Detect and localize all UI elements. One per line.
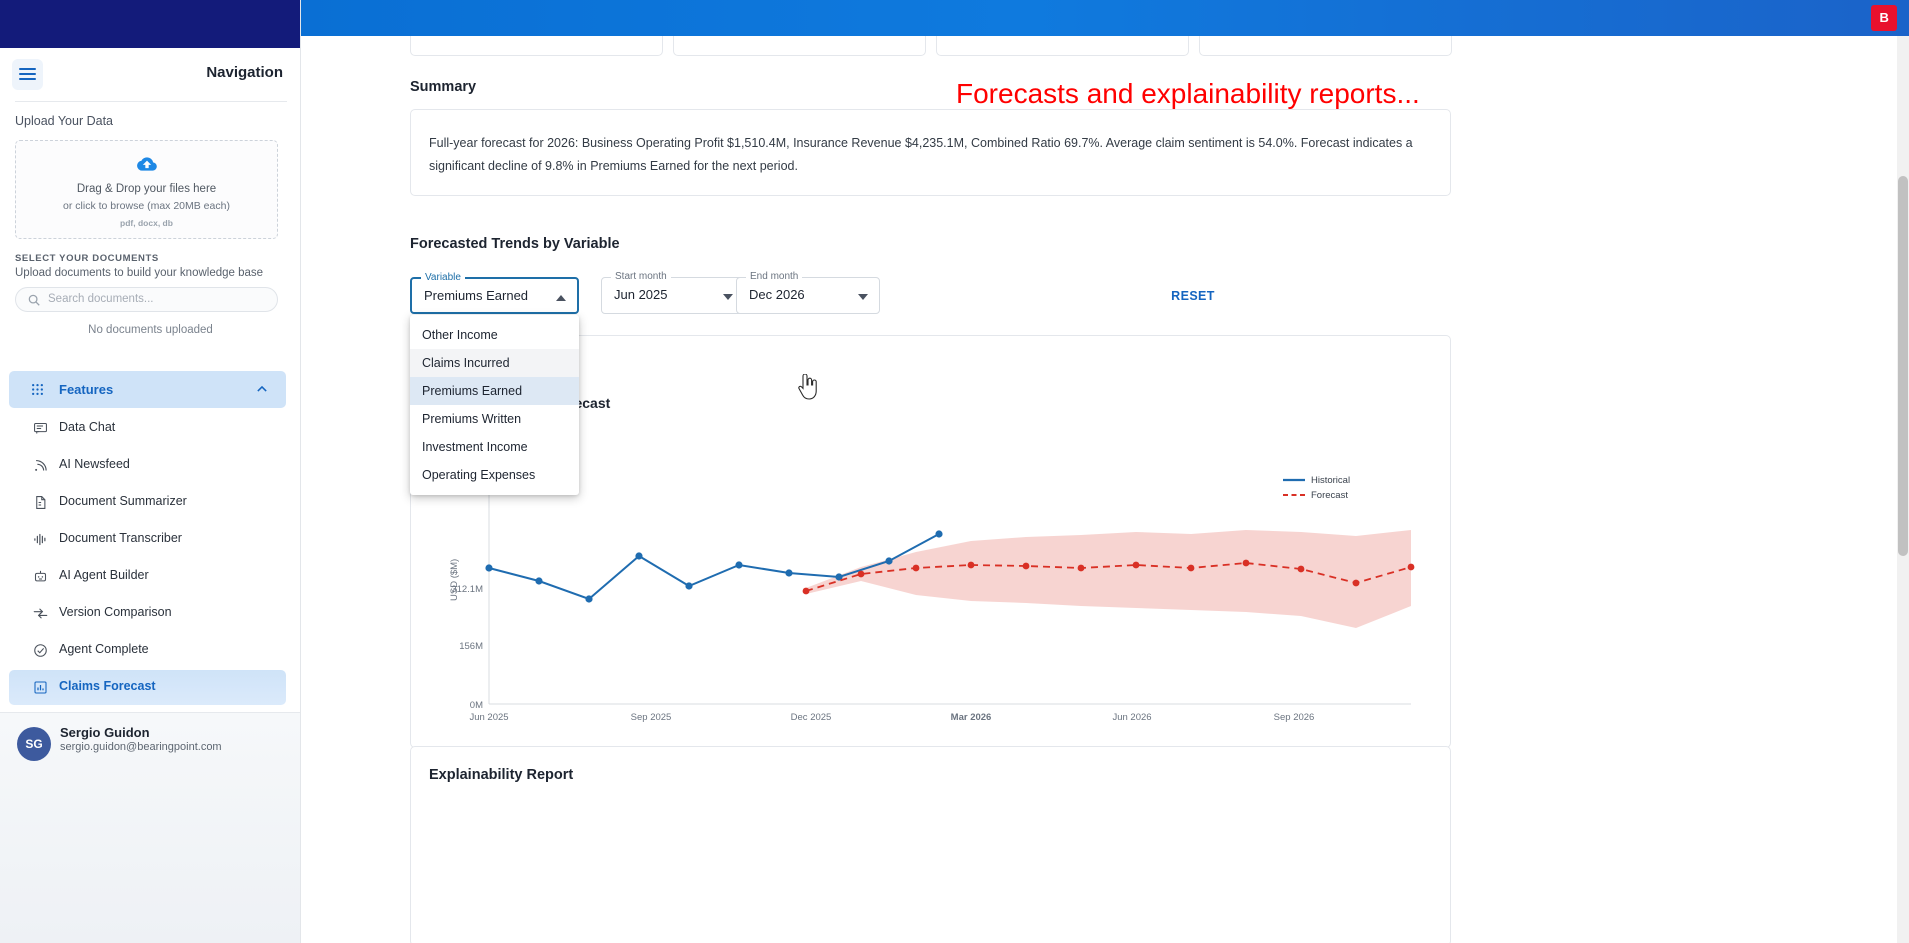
features-section-label: Features <box>59 382 113 397</box>
annotation-text: Forecasts and explainability reports... <box>956 78 1420 110</box>
user-email: sergio.guidon@bearingpoint.com <box>60 741 222 753</box>
dropdown-option-claims-incurred[interactable]: Claims Incurred <box>410 349 579 377</box>
sidebar-item-label: Version Comparison <box>59 605 172 619</box>
legend-label-forecast: Forecast <box>1311 490 1348 501</box>
hamburger-bar <box>19 78 36 80</box>
sidebar-item-ai-agent-builder[interactable]: AI Agent Builder <box>9 559 286 594</box>
start-month-select[interactable]: Start month Jun 2025 <box>601 277 745 314</box>
dropdown-option-other-income[interactable]: Other Income <box>410 321 579 349</box>
main-content: Forecasts and explainability reports... … <box>301 36 1854 943</box>
chart-legend: Historical Forecast <box>1283 475 1350 501</box>
sidebar-item-label: AI Newsfeed <box>59 457 130 471</box>
sidebar-item-ai-newsfeed[interactable]: AI Newsfeed <box>9 448 286 483</box>
chevron-up-icon[interactable] <box>556 295 566 301</box>
dropzone-filetypes-text: pdf, docx, db <box>16 218 277 228</box>
sidebar-item-document-summarizer[interactable]: Document Summarizer <box>9 485 286 520</box>
y-tick-label: 0M <box>470 700 483 711</box>
kpi-card[interactable] <box>673 36 926 56</box>
page-scrollbar-thumb[interactable] <box>1898 176 1908 556</box>
sidebar-item-data-chat[interactable]: Data Chat <box>9 411 286 446</box>
summary-text: Full-year forecast for 2026: Business Op… <box>429 132 1429 178</box>
kpi-card[interactable] <box>1199 36 1452 56</box>
sidebar-item-document-transcriber[interactable]: Document Transcriber <box>9 522 286 557</box>
documents-section-subtitle: Upload documents to build your knowledge… <box>15 267 263 279</box>
chat-icon <box>33 421 48 436</box>
dropdown-option-operating-expenses[interactable]: Operating Expenses <box>410 461 579 489</box>
mouse-cursor-pointer <box>796 374 818 400</box>
sidebar-item-version-comparison[interactable]: Version Comparison <box>9 596 286 631</box>
sidebar-item-agent-complete[interactable]: Agent Complete <box>9 633 286 668</box>
dropzone-primary-text: Drag & Drop your files here <box>16 183 277 195</box>
sidebar-item-label: Document Summarizer <box>59 494 187 508</box>
document-icon <box>33 495 48 510</box>
end-month-select[interactable]: End month Dec 2026 <box>736 277 880 314</box>
documents-empty-state: No documents uploaded <box>0 324 301 336</box>
hamburger-bar <box>19 68 36 70</box>
explainability-card: Explainability Report <box>410 746 1451 943</box>
chevron-down-icon[interactable] <box>858 294 868 300</box>
legend-label-historical: Historical <box>1311 475 1350 486</box>
dropdown-option-premiums-written[interactable]: Premiums Written <box>410 405 579 433</box>
sidebar-item-label: Claims Forecast <box>59 679 156 693</box>
x-tick-label: Dec 2025 <box>791 712 832 723</box>
historical-series-line <box>489 534 939 599</box>
end-month-value: Dec 2026 <box>749 287 805 302</box>
sidebar-item-claims-forecast[interactable]: Claims Forecast <box>9 670 286 705</box>
search-documents-input[interactable]: Search documents... <box>15 287 278 312</box>
variable-dropdown-menu[interactable]: Other Income Claims Incurred Premiums Ea… <box>410 315 579 495</box>
x-tick-label: Sep 2026 <box>1274 712 1315 723</box>
reset-button[interactable]: RESET <box>1162 282 1224 310</box>
upload-section-label: Upload Your Data <box>15 114 113 128</box>
robot-icon <box>33 569 48 584</box>
top-app-bar: B <box>301 0 1909 36</box>
avatar: SG <box>17 727 51 761</box>
start-month-label: Start month <box>611 271 671 282</box>
chevron-down-icon[interactable] <box>723 294 733 300</box>
sidebar-item-label: AI Agent Builder <box>59 568 149 582</box>
user-name: Sergio Guidon <box>60 725 150 740</box>
sidebar-item-label: Data Chat <box>59 420 115 434</box>
chevron-up-icon[interactable] <box>257 386 267 392</box>
x-tick-label: Mar 2026 <box>951 712 992 723</box>
grid-apps-icon <box>31 383 44 396</box>
menu-toggle-button[interactable] <box>12 59 43 90</box>
search-icon <box>27 293 41 307</box>
check-circle-icon <box>33 643 48 658</box>
rss-icon <box>33 458 48 473</box>
dropdown-option-premiums-earned[interactable]: Premiums Earned <box>410 377 579 405</box>
page-scrollbar-track[interactable] <box>1897 36 1909 943</box>
x-tick-label: Jun 2025 <box>469 712 508 723</box>
cloud-upload-icon <box>132 154 162 174</box>
y-tick-label: 156M <box>459 641 483 652</box>
variable-select[interactable]: Variable Premiums Earned <box>410 277 579 314</box>
sidebar-brand-band <box>0 0 301 48</box>
variable-select-value: Premiums Earned <box>424 288 528 303</box>
sidebar-item-label: Agent Complete <box>59 642 149 656</box>
file-dropzone[interactable]: Drag & Drop your files here or click to … <box>15 140 278 239</box>
summary-card: Full-year forecast for 2026: Business Op… <box>410 109 1451 196</box>
sidebar-item-label: Document Transcriber <box>59 531 182 545</box>
forecast-confidence-band <box>806 530 1411 628</box>
dropzone-secondary-text: or click to browse (max 20MB each) <box>16 200 277 212</box>
hamburger-bar <box>19 73 36 75</box>
start-month-value: Jun 2025 <box>614 287 668 302</box>
bar-chart-icon <box>33 680 48 695</box>
x-tick-label: Jun 2026 <box>1112 712 1151 723</box>
sidebar-user-panel[interactable]: SG Sergio Guidon sergio.guidon@bearingpo… <box>0 713 301 943</box>
sidebar: Navigation Upload Your Data Drag & Drop … <box>0 0 301 943</box>
variable-select-label: Variable <box>421 272 465 283</box>
search-documents-placeholder: Search documents... <box>48 293 153 305</box>
waveform-icon <box>33 532 48 547</box>
x-tick-label: Sep 2025 <box>631 712 672 723</box>
y-tick-label: 312.1M <box>451 584 483 595</box>
sidebar-divider <box>15 101 287 102</box>
navigation-title: Navigation <box>206 64 283 81</box>
sidebar-section-features[interactable]: Features <box>9 371 286 408</box>
kpi-card[interactable] <box>410 36 663 56</box>
documents-section-label: SELECT YOUR DOCUMENTS <box>15 253 159 264</box>
compare-arrows-icon <box>33 606 48 621</box>
dropdown-option-investment-income[interactable]: Investment Income <box>410 433 579 461</box>
brand-logo[interactable]: B <box>1871 5 1897 31</box>
end-month-label: End month <box>746 271 802 282</box>
explainability-title: Explainability Report <box>429 767 573 783</box>
summary-section-title: Summary <box>410 79 476 95</box>
trends-section-title: Forecasted Trends by Variable <box>410 236 620 252</box>
kpi-card[interactable] <box>936 36 1189 56</box>
